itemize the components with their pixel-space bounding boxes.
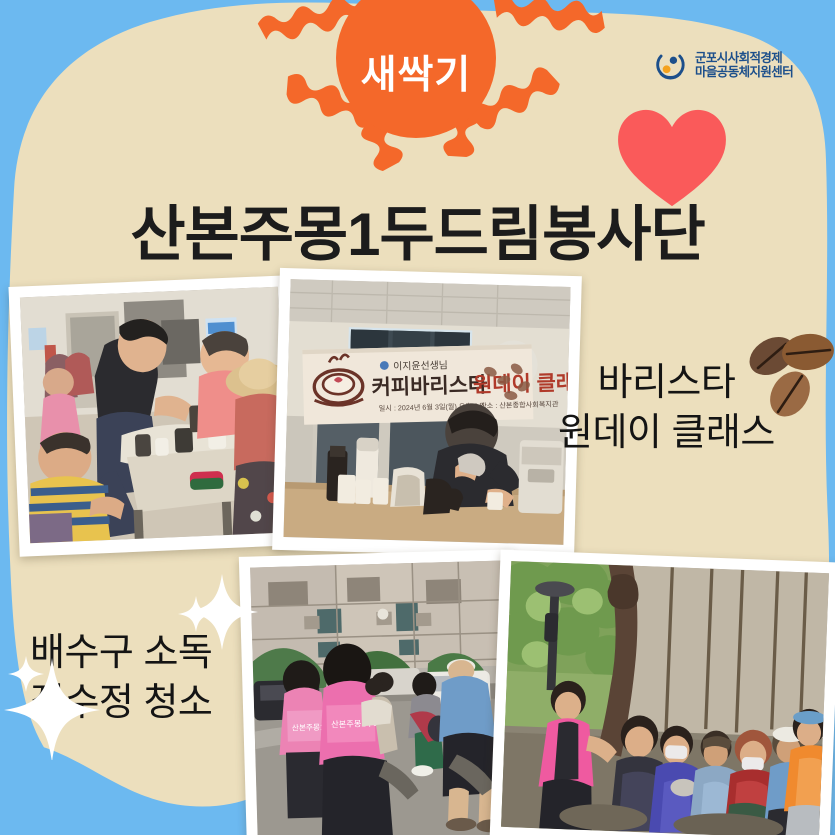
logo-line-1: 군포시사회적경제: [695, 51, 793, 65]
photo-street-cleanup: 산본주몽1두드림 산본주몽1두드림: [239, 549, 522, 835]
photo-group-portrait-image: [501, 561, 829, 835]
svg-text:장소 : 산본종합사회복지관: 장소 : 산본종합사회복지관: [480, 399, 559, 410]
photo-barista-class: 이지윤선생님 커피바리스타 원데이 클래스 일시 : 2024년 6월 3일(월…: [272, 268, 582, 558]
logo-text: 군포시사회적경제 마을공동체지원센터: [695, 51, 793, 79]
photo-group-portrait: [490, 550, 835, 835]
center-logo: 군포시사회적경제 마을공동체지원센터: [653, 48, 793, 82]
logo-line-2: 마을공동체지원센터: [695, 65, 793, 79]
photo-coffee-serving: [8, 275, 299, 556]
photo-barista-class-image: 이지윤선생님 커피바리스타 원데이 클래스 일시 : 2024년 6월 3일(월…: [283, 279, 570, 545]
season-badge-label: 새싹기: [361, 16, 472, 100]
coffee-bean-icon: [742, 322, 835, 434]
caption-cleanup-line-2: 집수정 청소: [30, 678, 212, 728]
caption-cleanup: 배수구 소독 집수정 청소: [30, 628, 212, 728]
caption-cleanup-line-1: 배수구 소독: [30, 628, 212, 678]
photo-coffee-serving-image: [20, 287, 288, 544]
poster-canvas: 새싹기 군포시사회적경제 마을공동체지원센터 산본주몽1두드림봉사단: [0, 0, 835, 835]
svg-text:이지윤선생님: 이지윤선생님: [393, 359, 448, 372]
page-title: 산본주몽1두드림봉사단: [0, 186, 835, 273]
svg-text:커피바리스타: 커피바리스타: [371, 374, 488, 400]
circle-dot-logo-icon: [653, 48, 687, 82]
photo-street-cleanup-image: 산본주몽1두드림 산본주몽1두드림: [250, 561, 511, 835]
